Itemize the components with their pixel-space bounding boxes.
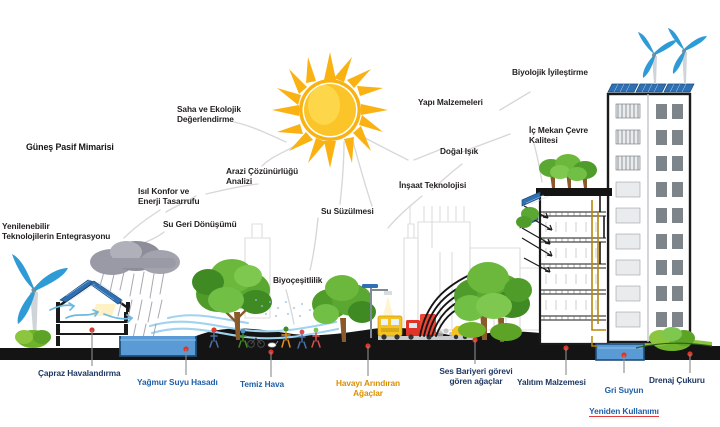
- label-yagmur-suyu-hasadi: Yağmur Suyu Hasadı: [137, 377, 239, 387]
- label-ic-mekan-cevre-kalitesi: İç Mekan Çevre Kalitesi: [529, 125, 631, 145]
- label-gunes-pasif-mimarisi: Güneş Pasif Mimarisi: [26, 142, 152, 152]
- label-saha-ve-ekolojik: Saha ve Ekolojik Değerlendirme: [177, 104, 283, 124]
- label-capraz-havalandirma: Çapraz Havalandırma: [38, 368, 150, 378]
- label-biyocesitlilik: Biyoçeşitlilik: [273, 275, 355, 285]
- gri-suyun-line1: Gri Suyun: [605, 385, 644, 395]
- label-temiz-hava: Temiz Hava: [240, 379, 306, 389]
- label-arazi-cozunurlugu: Arazi Çözünürlüğü Analizi: [226, 166, 334, 186]
- label-havayi-arindiran-agaclar: Havayı Arındıran Ağaçlar: [320, 378, 416, 398]
- label-yenilenebilir-teknolojiler: Yenilenebilir Teknolojilerin Entegrasyon…: [2, 221, 124, 241]
- infographic-canvas: Güneş Pasif Mimarisi Yenilenebilir Tekno…: [0, 0, 720, 427]
- label-yapi-malzemeleri: Yapı Malzemeleri: [418, 97, 520, 107]
- gri-suyun-line2: Yeniden Kullanımı: [589, 406, 659, 417]
- label-su-geri-donusumu: Su Geri Dönüşümü: [163, 219, 269, 229]
- label-drenaj-cukuru: Drenaj Çukuru: [649, 375, 720, 385]
- label-dogal-isik: Doğal Işık: [440, 146, 512, 156]
- label-ses-bariyeri-agaclar: Ses Bariyeri görevi gören ağaçlar: [424, 366, 528, 386]
- label-insaat-teknolojisi: İnşaat Teknolojisi: [399, 180, 501, 190]
- label-isil-konfor: Isıl Konfor ve Enerji Tasarrufu: [138, 186, 244, 206]
- label-biyolojik-iyilestirme: Biyolojik İyileştirme: [512, 67, 628, 77]
- callout-stems: [92, 330, 690, 377]
- label-su-suzulmesi: Su Süzülmesi: [321, 206, 413, 216]
